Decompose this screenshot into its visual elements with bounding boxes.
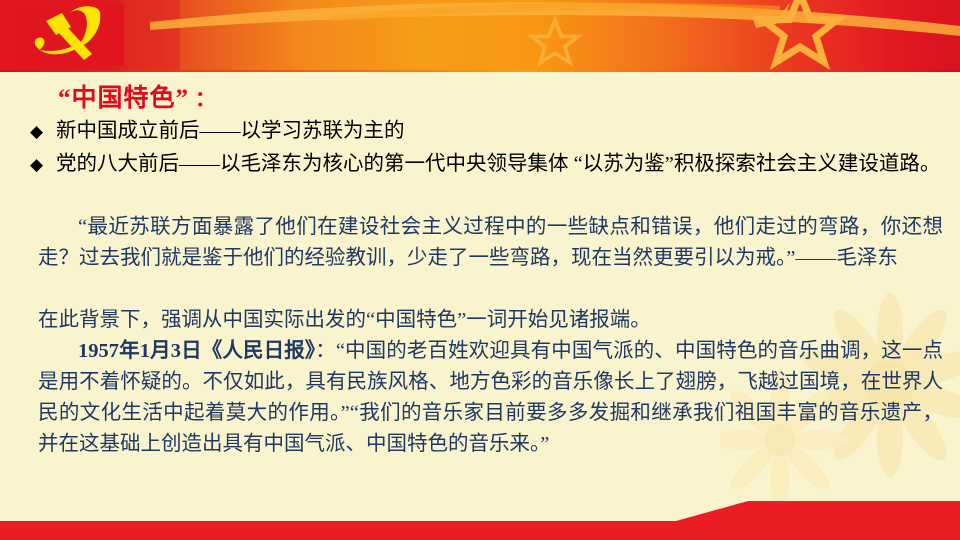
slide-header-banner (0, 0, 960, 72)
bullet-item-2-text: 党的八大前后——以毛泽东为核心的第一代中央领导集体 “以苏为鉴”积极探索社会主义… (56, 149, 945, 180)
news-quote-paragraph: 1957年1月3日《人民日报》：“中国的老百姓欢迎具有中国气派的、中国特色的音乐… (38, 336, 943, 460)
diamond-bullet-icon: ◆ (30, 116, 56, 147)
bullet-item-1: ◆ 新中国成立前后——以学习苏联为主的 (30, 116, 945, 147)
bullet-list: ◆ 新中国成立前后——以学习苏联为主的 ◆ 党的八大前后——以毛泽东为核心的第一… (30, 116, 945, 182)
context-text: 在此背景下，强调从中国实际出发的“中国特色”一词开始见诸报端。 (38, 309, 651, 331)
slide-title-text: “中国特色” (58, 85, 189, 112)
bullet-item-1-text: 新中国成立前后——以学习苏联为主的 (56, 116, 945, 147)
header-decoration-svg (0, 0, 960, 72)
hammer-and-sickle-emblem (14, 4, 124, 66)
presentation-slide: “中国特色”： ◆ 新中国成立前后——以学习苏联为主的 ◆ 党的八大前后——以毛… (0, 0, 960, 540)
mao-quote-text: “最近苏联方面暴露了他们在建设社会主义过程中的一些缺点和错误，他们走过的弯路，你… (38, 216, 943, 269)
slide-footer-band (0, 494, 960, 540)
context-paragraph: 在此背景下，强调从中国实际出发的“中国特色”一词开始见诸报端。 (38, 305, 943, 336)
slide-title-colon: ： (189, 87, 217, 111)
slide-title: “中国特色”： (58, 78, 217, 114)
slide-content: “中国特色”： ◆ 新中国成立前后——以学习苏联为主的 ◆ 党的八大前后——以毛… (0, 72, 960, 502)
news-date-source: 1957年1月3日《人民日报》 (78, 340, 315, 362)
bullet-item-2: ◆ 党的八大前后——以毛泽东为核心的第一代中央领导集体 “以苏为鉴”积极探索社会… (30, 149, 945, 180)
mao-quote-paragraph: “最近苏联方面暴露了他们在建设社会主义过程中的一些缺点和错误，他们走过的弯路，你… (38, 212, 943, 274)
diamond-bullet-icon: ◆ (30, 149, 56, 180)
